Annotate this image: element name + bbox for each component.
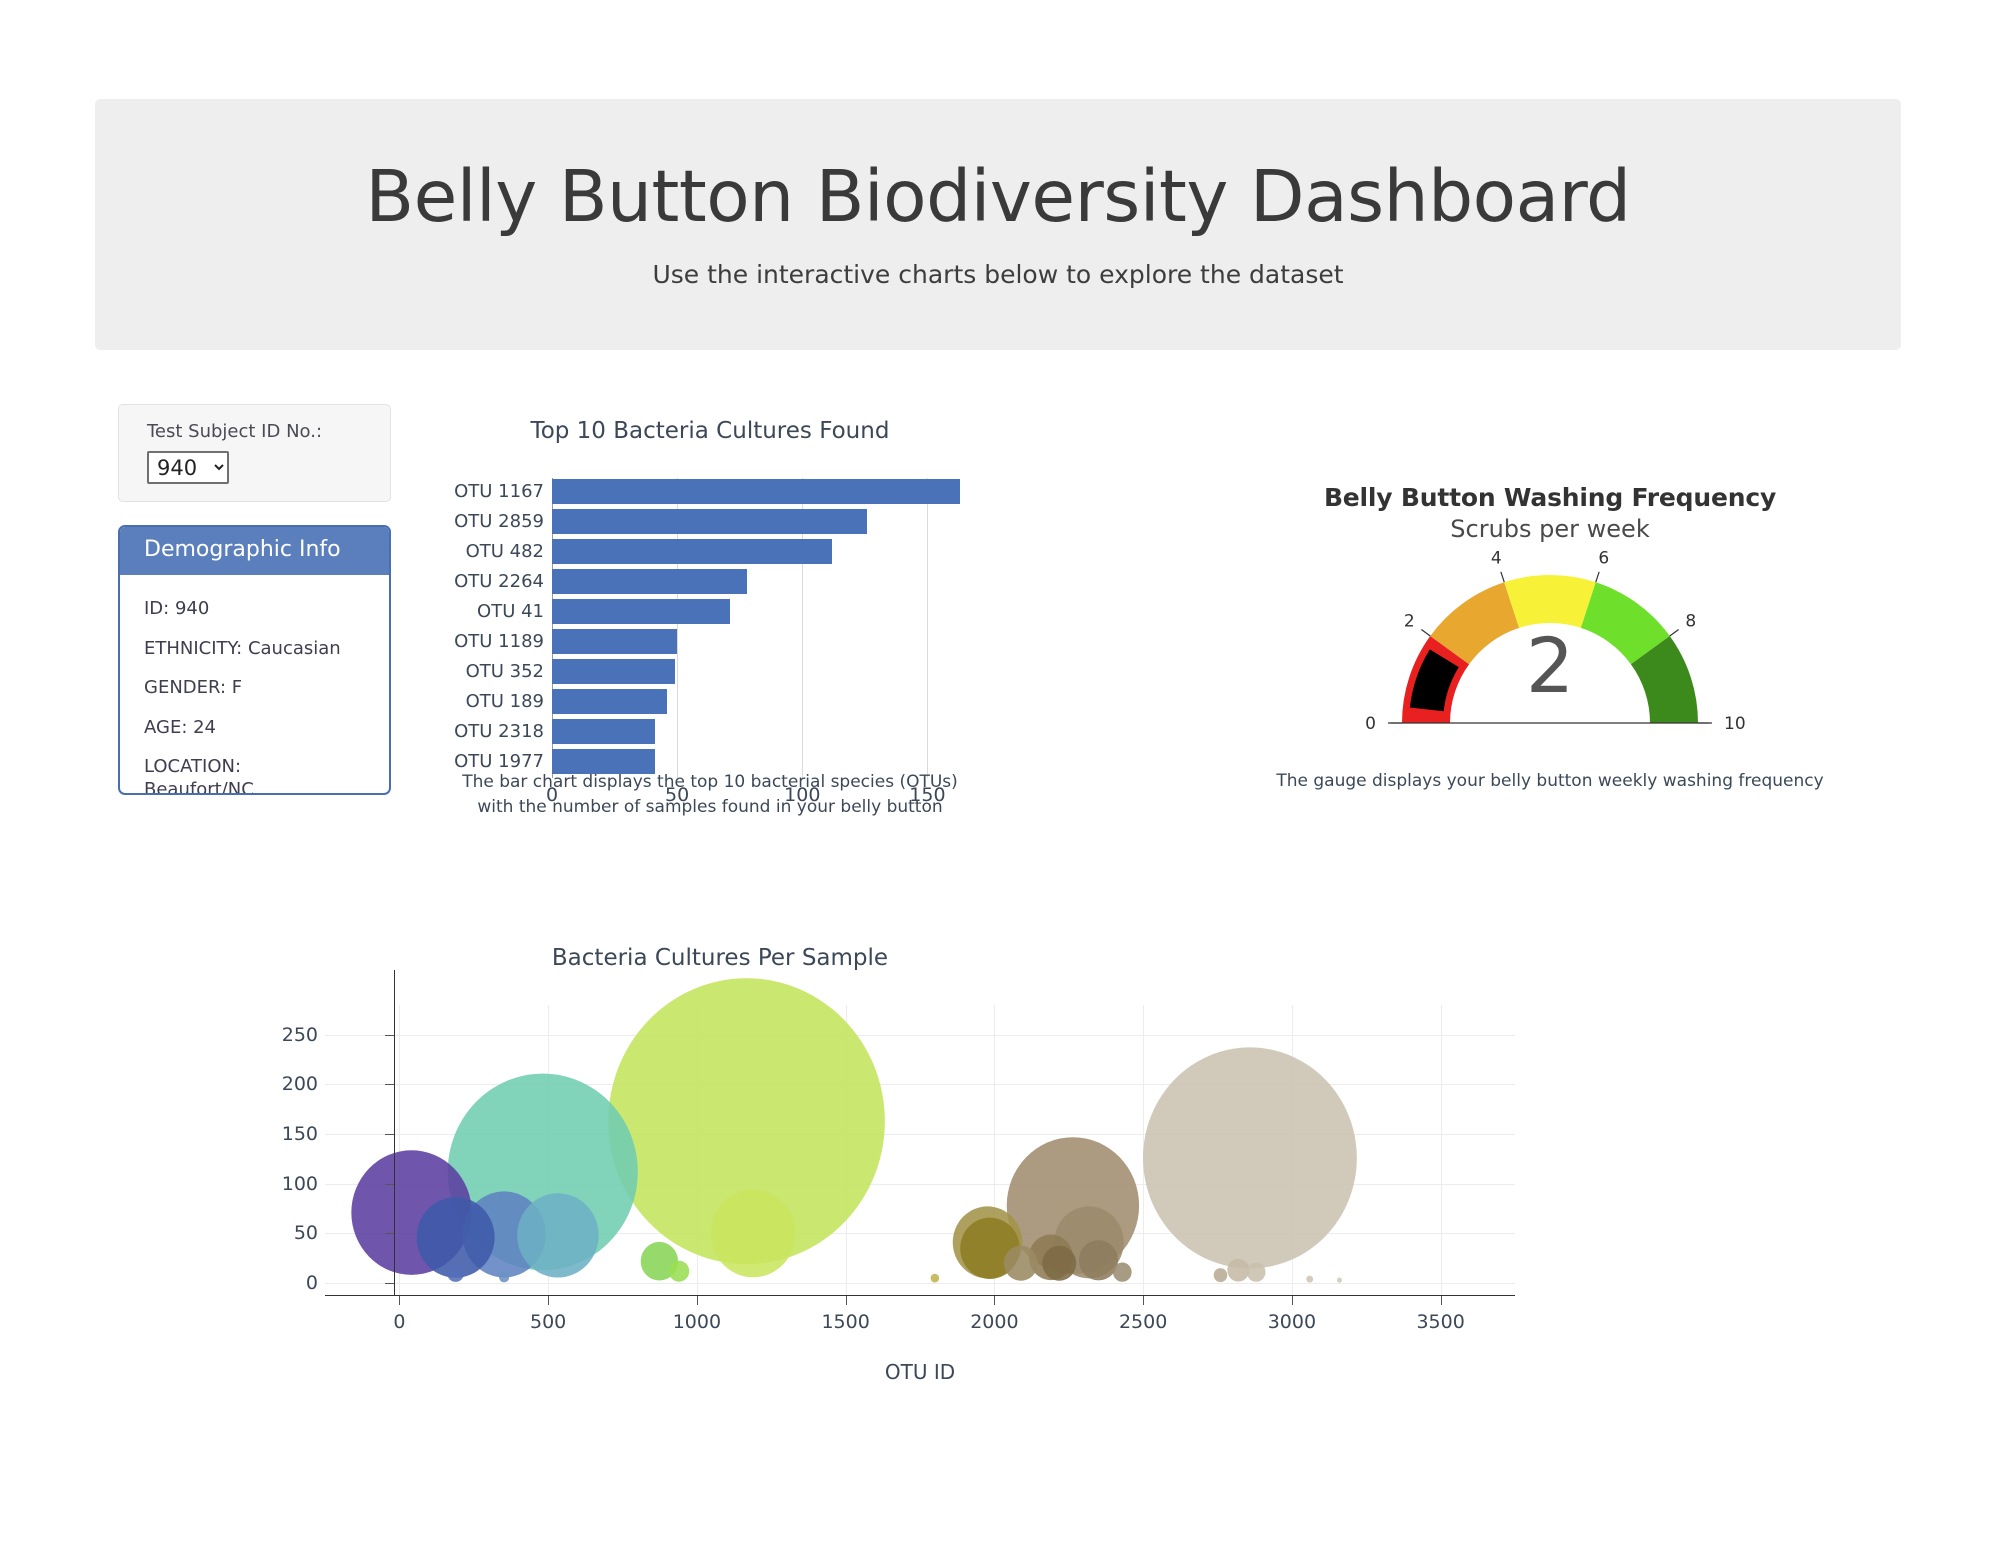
bubble-chart-x-label: OTU ID: [325, 1360, 1515, 1384]
bubble-point[interactable]: [1214, 1268, 1228, 1282]
bubble-y-tick-label: 100: [282, 1173, 318, 1195]
bubble-point[interactable]: [1004, 1246, 1038, 1281]
bar-row-label: OTU 1189: [430, 631, 552, 652]
bubble-point[interactable]: [1337, 1277, 1342, 1282]
bubble-y-tick-mark: [385, 1283, 394, 1284]
bubble-chart-x-axis-line: [325, 1295, 1515, 1296]
bubble-y-tick-mark: [385, 1233, 394, 1234]
gauge-caption: The gauge displays your belly button wee…: [1235, 771, 1865, 791]
bar-row-fill[interactable]: [552, 599, 730, 624]
bar-row-label: OTU 41: [430, 601, 552, 622]
bubble-x-tick-label: 1500: [821, 1311, 869, 1333]
bar-row-fill[interactable]: [552, 539, 832, 564]
page-header: Belly Button Biodiversity Dashboard Use …: [95, 99, 1901, 350]
bubble-x-tick-label: 500: [530, 1311, 566, 1333]
bar-row-label: OTU 2318: [430, 721, 552, 742]
bar-row-label: OTU 2859: [430, 511, 552, 532]
bar-chart-row[interactable]: OTU 2859: [430, 508, 990, 536]
bar-caption-line-2: with the number of samples found in your…: [430, 795, 990, 820]
bubble-point[interactable]: [1143, 1047, 1357, 1268]
gauge-tick-label: 10: [1724, 714, 1746, 734]
bar-chart-row[interactable]: OTU 41: [430, 598, 990, 626]
bubble-point[interactable]: [1227, 1259, 1249, 1282]
bar-row-label: OTU 352: [430, 661, 552, 682]
bubble-y-tick-label: 200: [282, 1073, 318, 1095]
bar-row-fill[interactable]: [552, 479, 960, 504]
bar-row-track: [552, 568, 990, 596]
bubble-point[interactable]: [1079, 1240, 1118, 1280]
top-bacteria-bar-chart: Top 10 Bacteria Cultures Found OTU 1167O…: [430, 418, 990, 858]
bubble-point[interactable]: [1247, 1263, 1266, 1282]
gauge-title: Belly Button Washing Frequency: [1235, 483, 1865, 512]
bubble-chart-plot: 0501001502002500500100015002000250030003…: [325, 1005, 1515, 1295]
gauge-tick-label: 0: [1365, 714, 1376, 734]
bubble-x-tick-label: 2000: [970, 1311, 1018, 1333]
bubble-chart-title: Bacteria Cultures Per Sample: [135, 945, 1305, 971]
bar-row-track: [552, 478, 990, 506]
bar-caption-line-1: The bar chart displays the top 10 bacter…: [430, 770, 990, 795]
bubble-point[interactable]: [1113, 1263, 1132, 1282]
bar-row-fill[interactable]: [552, 659, 675, 684]
bar-row-fill[interactable]: [552, 509, 867, 534]
bubble-y-tick-label: 0: [306, 1272, 318, 1294]
bar-row-track: [552, 718, 990, 746]
washing-frequency-gauge: Belly Button Washing Frequency Scrubs pe…: [1235, 483, 1865, 823]
bubble-y-tick-mark: [385, 1184, 394, 1185]
bubble-chart-canvas: [325, 1005, 1515, 1295]
subject-selector-panel: Test Subject ID No.: 9409419439449459469…: [118, 404, 391, 502]
gauge-band-2: [1504, 575, 1595, 628]
bubble-point[interactable]: [931, 1274, 939, 1283]
bar-chart-row[interactable]: OTU 1189: [430, 628, 990, 656]
bubble-x-tick-mark: [994, 1296, 995, 1305]
gauge-value-readout: 2: [1235, 621, 1865, 710]
bubble-point[interactable]: [447, 1264, 464, 1282]
bar-chart-row[interactable]: OTU 352: [430, 658, 990, 686]
bar-row-label: OTU 1167: [430, 481, 552, 502]
bar-chart-plot: OTU 1167OTU 2859OTU 482OTU 2264OTU 41OTU…: [430, 478, 990, 778]
bubble-y-tick-mark: [385, 1035, 394, 1036]
bar-row-label: OTU 2264: [430, 571, 552, 592]
bubble-y-tick-mark: [385, 1134, 394, 1135]
bubble-x-tick-label: 1000: [673, 1311, 721, 1333]
bar-row-fill[interactable]: [552, 629, 677, 654]
bubble-x-tick-mark: [1292, 1296, 1293, 1305]
demographic-row: GENDER: F: [144, 677, 369, 700]
bar-row-fill[interactable]: [552, 689, 667, 714]
bubble-chart-y-axis-line: [394, 970, 395, 1295]
bubble-point[interactable]: [711, 1190, 796, 1278]
bubble-y-tick-mark: [385, 1084, 394, 1085]
page-subtitle: Use the interactive charts below to expl…: [652, 260, 1343, 289]
demographic-row: ETHNICITY: Caucasian: [144, 638, 369, 661]
bar-row-track: [552, 508, 990, 536]
subject-selector-label: Test Subject ID No.:: [147, 421, 390, 442]
gauge-tick-label: 6: [1598, 549, 1609, 569]
bubble-x-tick-label: 3500: [1416, 1311, 1464, 1333]
bar-row-label: OTU 189: [430, 691, 552, 712]
demographic-row: AGE: 24: [144, 717, 369, 740]
gauge-tick-label: 4: [1491, 549, 1502, 569]
bar-row-fill[interactable]: [552, 719, 655, 744]
bar-row-label: OTU 482: [430, 541, 552, 562]
bubble-y-tick-label: 50: [294, 1222, 318, 1244]
bubble-x-tick-label: 0: [393, 1311, 405, 1333]
bar-chart-row[interactable]: OTU 2318: [430, 718, 990, 746]
page-title: Belly Button Biodiversity Dashboard: [365, 160, 1630, 235]
gauge-dial: 0246810 2: [1235, 547, 1865, 747]
bubble-x-tick-mark: [1143, 1296, 1144, 1305]
demographic-row: ID: 940: [144, 598, 369, 621]
bubble-x-tick-mark: [548, 1296, 549, 1305]
bar-row-track: [552, 598, 990, 626]
bar-row-track: [552, 658, 990, 686]
bubble-point[interactable]: [499, 1272, 509, 1283]
bar-chart-title: Top 10 Bacteria Cultures Found: [430, 418, 990, 444]
bubble-point[interactable]: [517, 1193, 598, 1277]
gauge-subtitle: Scrubs per week: [1235, 515, 1865, 543]
bubble-y-tick-label: 250: [282, 1024, 318, 1046]
bar-chart-rows: OTU 1167OTU 2859OTU 482OTU 2264OTU 41OTU…: [430, 478, 990, 776]
bar-chart-row[interactable]: OTU 189: [430, 688, 990, 716]
gauge-tick-mark: [1501, 572, 1504, 582]
dashboard-page: Belly Button Biodiversity Dashboard Use …: [0, 0, 1999, 1545]
bar-row-track: [552, 538, 990, 566]
bubble-x-tick-label: 3000: [1268, 1311, 1316, 1333]
bubble-point[interactable]: [1306, 1276, 1313, 1283]
subject-id-select[interactable]: 940941943944945946947948949950: [147, 451, 229, 484]
bar-chart-caption: The bar chart displays the top 10 bacter…: [430, 770, 990, 819]
bar-chart-row[interactable]: OTU 2264: [430, 568, 990, 596]
demographic-info-card: Demographic Info ID: 940ETHNICITY: Cauca…: [118, 525, 391, 795]
bubble-x-tick-mark: [1441, 1296, 1442, 1305]
demographic-card-title: Demographic Info: [120, 527, 389, 575]
bar-chart-row[interactable]: OTU 482: [430, 538, 990, 566]
bubble-point[interactable]: [669, 1261, 689, 1282]
bubble-y-tick-label: 150: [282, 1123, 318, 1145]
gauge-tick-mark: [1596, 572, 1599, 582]
bar-chart-row[interactable]: OTU 1167: [430, 478, 990, 506]
demographic-row: LOCATION:Beaufort/NC: [144, 756, 369, 795]
bar-row-track: [552, 688, 990, 716]
bubble-x-tick-mark: [399, 1296, 400, 1305]
bacteria-per-sample-bubble-chart: Bacteria Cultures Per Sample 05010015020…: [100, 945, 1860, 1505]
bubble-x-tick-mark: [697, 1296, 698, 1305]
bubble-point[interactable]: [1042, 1246, 1076, 1281]
bubble-x-tick-mark: [846, 1296, 847, 1305]
demographic-card-body: ID: 940ETHNICITY: CaucasianGENDER: FAGE:…: [120, 575, 389, 795]
bar-row-fill[interactable]: [552, 569, 747, 594]
bubble-x-tick-label: 2500: [1119, 1311, 1167, 1333]
bar-row-track: [552, 628, 990, 656]
